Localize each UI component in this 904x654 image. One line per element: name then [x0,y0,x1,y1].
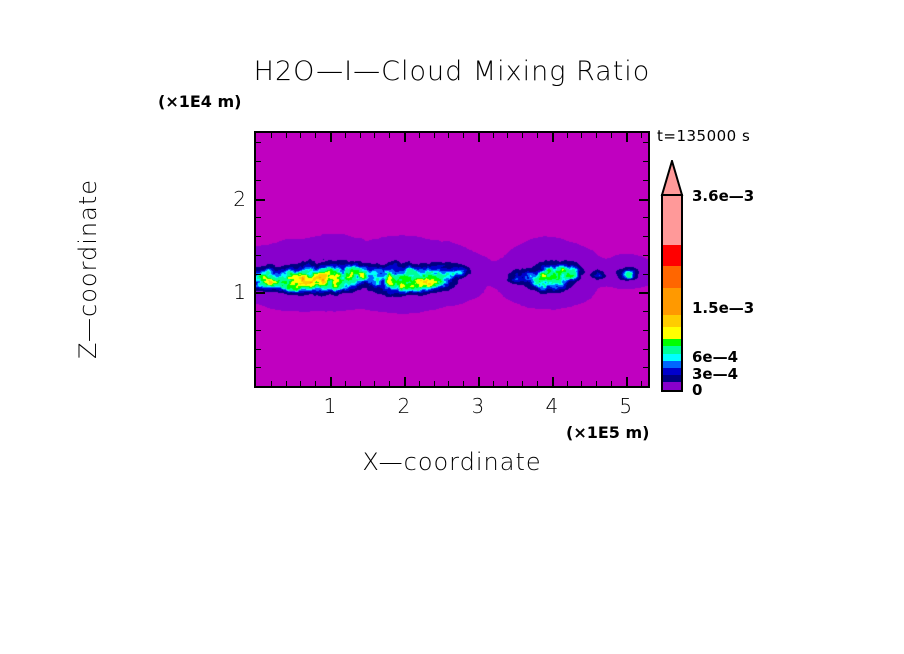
figure-canvas: H2O—I—Cloud Mixing Ratio (×1E4 m) t=1350… [0,0,904,654]
axis-tick [360,381,361,386]
axis-tick [493,133,494,138]
colorbar-tick-label: 6e—4 [692,348,738,366]
axis-tick [256,180,261,181]
axis-tick [522,381,523,386]
axis-tick [256,199,265,201]
axis-tick [611,381,612,386]
axis-tick [611,133,612,138]
x-tick-label: 1 [324,394,337,418]
y-axis-title: Z—coordinate [74,119,102,419]
axis-tick [256,142,261,143]
colorbar-band [663,382,681,390]
axis-tick [552,377,554,386]
page-title: H2O—I—Cloud Mixing Ratio [0,56,904,87]
axis-tick [478,377,480,386]
y-axis-multiplier-label: (×1E4 m) [158,92,241,111]
axis-tick [552,133,554,142]
axis-tick [300,133,301,138]
colorbar-extend-arrow-icon [659,160,685,196]
axis-tick [330,377,332,386]
axis-tick [537,381,538,386]
colorbar-tick-label: 1.5e—3 [692,299,754,317]
axis-tick [256,330,261,331]
colorbar-band [663,368,681,375]
axis-tick [641,381,642,386]
axis-tick [256,255,261,256]
x-axis-multiplier-label: (×1E5 m) [566,423,649,442]
axis-tick [389,133,390,138]
x-tick-label: 5 [619,394,632,418]
x-tick-label: 3 [472,394,485,418]
axis-tick [434,133,435,138]
axis-tick [626,133,628,142]
y-tick-label: 2 [222,187,246,211]
axis-tick [256,217,261,218]
colorbar-band [663,315,681,327]
axis-tick [271,381,272,386]
axis-tick [419,133,420,138]
axis-tick [345,381,346,386]
axis-tick [448,133,449,138]
axis-tick [256,236,261,237]
axis-tick [374,381,375,386]
x-tick-label: 4 [545,394,558,418]
colorbar-band [663,354,681,361]
axis-tick [493,381,494,386]
axis-tick [596,381,597,386]
axis-tick [404,133,406,142]
colorbar-band [663,375,681,382]
colorbar-band [663,339,681,347]
colorbar [659,160,685,392]
axis-tick [389,381,390,386]
axis-tick [643,161,648,162]
axis-tick [300,381,301,386]
time-annotation: t=135000 s [657,127,750,145]
axis-tick [286,133,287,138]
axis-tick [643,274,648,275]
y-tick-label: 1 [222,280,246,304]
cloud-mixing-ratio-field [256,133,648,386]
axis-tick [271,133,272,138]
axis-tick [256,311,261,312]
axis-tick [643,255,648,256]
colorbar-band [663,288,681,315]
axis-tick [360,133,361,138]
x-axis-title: X—coordinate [0,448,904,476]
x-tick-label: 2 [398,394,411,418]
axis-tick [567,381,568,386]
axis-tick [463,133,464,138]
axis-tick [581,381,582,386]
axis-tick [286,381,287,386]
axis-tick [256,274,261,275]
colorbar-band [663,327,681,338]
axis-tick [537,133,538,138]
axis-tick [404,377,406,386]
axis-tick [448,381,449,386]
colorbar-band [663,245,681,265]
colorbar-band [663,361,681,368]
axis-tick [639,292,648,294]
axis-tick [419,381,420,386]
axis-tick [643,330,648,331]
colorbar-bands [661,194,683,392]
axis-tick [507,133,508,138]
plot-area [254,131,650,388]
axis-tick [315,133,316,138]
axis-tick [643,217,648,218]
axis-tick [434,381,435,386]
axis-tick [643,349,648,350]
axis-tick [256,367,261,368]
axis-tick [256,349,261,350]
axis-tick [643,367,648,368]
axis-tick [643,311,648,312]
axis-tick [315,381,316,386]
axis-tick [581,133,582,138]
colorbar-band [663,196,681,245]
colorbar-tick-label: 3.6e—3 [692,187,754,205]
axis-tick [374,133,375,138]
axis-tick [643,236,648,237]
axis-tick [643,180,648,181]
axis-tick [641,133,642,138]
axis-tick [522,133,523,138]
axis-tick [643,142,648,143]
colorbar-band [663,266,681,288]
axis-tick [463,381,464,386]
colorbar-tick-label: 0 [692,381,702,399]
axis-tick [639,199,648,201]
axis-tick [507,381,508,386]
axis-tick [478,133,480,142]
axis-tick [256,161,261,162]
axis-tick [345,133,346,138]
axis-tick [596,133,597,138]
axis-tick [626,377,628,386]
axis-tick [330,133,332,142]
colorbar-band [663,346,681,353]
axis-tick [256,292,265,294]
axis-tick [567,133,568,138]
